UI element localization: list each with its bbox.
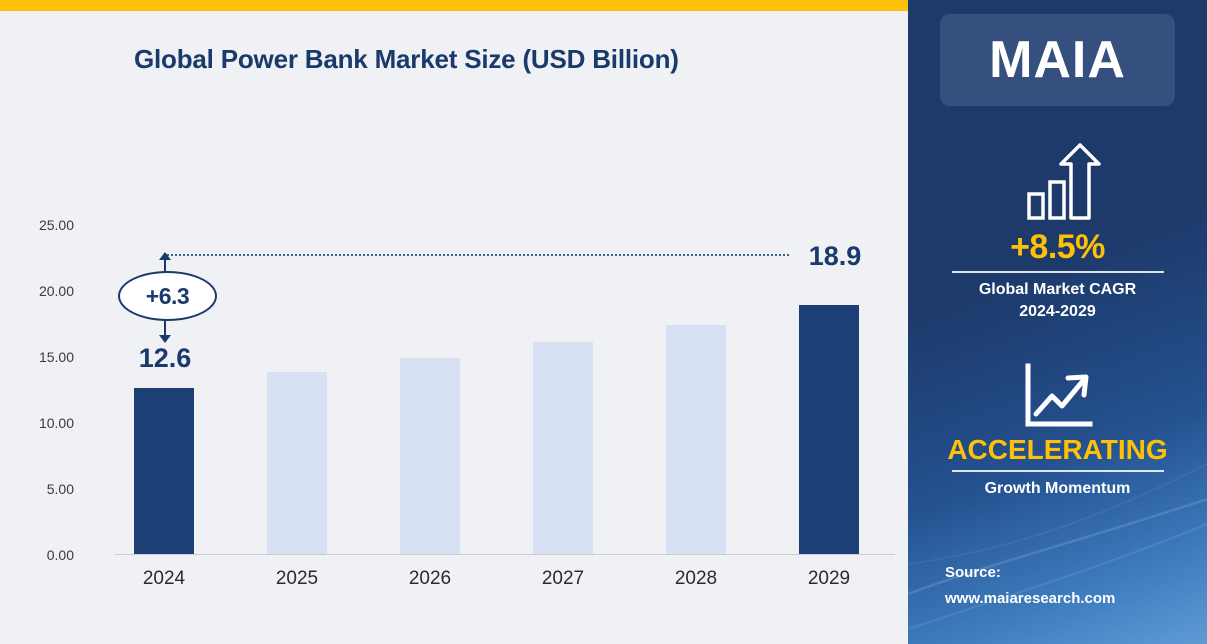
x-tick-2028: 2028	[641, 568, 751, 590]
infographic-root: Global Power Bank Market Size (USD Billi…	[0, 0, 1207, 644]
plot-area: 25.00 20.00 15.00 10.00 5.00 0.00 2024 2…	[0, 0, 908, 644]
trending-up-chart-icon	[908, 362, 1207, 432]
bar-2028[interactable]	[666, 325, 726, 554]
bar-2027[interactable]	[533, 342, 593, 554]
brand-logo[interactable]: MAIA	[940, 14, 1175, 106]
bar-2026[interactable]	[400, 358, 460, 554]
bar-2025[interactable]	[267, 372, 327, 554]
x-tick-2025: 2025	[242, 568, 352, 590]
x-axis-line	[115, 554, 895, 555]
growth-arrow-down-head	[159, 335, 171, 343]
x-tick-2029: 2029	[774, 568, 884, 590]
brand-logo-text: MAIA	[989, 30, 1126, 90]
bar-growth-arrow-icon	[908, 140, 1207, 226]
bar-2029[interactable]	[799, 305, 859, 554]
kpi-momentum-label-1: Growth Momentum	[908, 478, 1207, 500]
data-label-2024: 12.6	[130, 343, 200, 374]
y-tick-15: 15.00	[10, 349, 74, 365]
x-tick-2027: 2027	[508, 568, 618, 590]
side-panel: MAIA +8.5% Global Market CAGR 2024-2029	[908, 0, 1207, 644]
x-tick-2024: 2024	[109, 568, 219, 590]
y-tick-10: 10.00	[10, 415, 74, 431]
growth-arrow-up-head	[159, 252, 171, 260]
kpi-momentum-value: ACCELERATING	[908, 434, 1207, 466]
kpi-momentum-divider	[952, 470, 1164, 472]
kpi-cagr: +8.5% Global Market CAGR 2024-2029	[908, 140, 1207, 323]
kpi-cagr-label-2: 2024-2029	[908, 301, 1207, 323]
bar-2024[interactable]	[134, 388, 194, 554]
kpi-cagr-divider	[952, 271, 1164, 273]
leader-line	[164, 254, 789, 258]
kpi-momentum: ACCELERATING Growth Momentum	[908, 362, 1207, 500]
growth-callout-badge: +6.3	[118, 271, 217, 321]
y-tick-25: 25.00	[10, 217, 74, 233]
x-tick-2026: 2026	[375, 568, 485, 590]
chart-panel: Global Power Bank Market Size (USD Billi…	[0, 0, 908, 644]
source-block: Source: www.maiaresearch.com	[945, 560, 1195, 612]
data-label-2029: 18.9	[795, 241, 875, 272]
kpi-cagr-label-1: Global Market CAGR	[908, 279, 1207, 301]
source-url[interactable]: www.maiaresearch.com	[945, 586, 1195, 612]
y-tick-20: 20.00	[10, 283, 74, 299]
kpi-cagr-value: +8.5%	[908, 228, 1207, 267]
y-tick-0: 0.00	[10, 547, 74, 563]
y-tick-5: 5.00	[10, 481, 74, 497]
source-label: Source:	[945, 560, 1195, 586]
growth-callout-value: +6.3	[146, 283, 189, 310]
